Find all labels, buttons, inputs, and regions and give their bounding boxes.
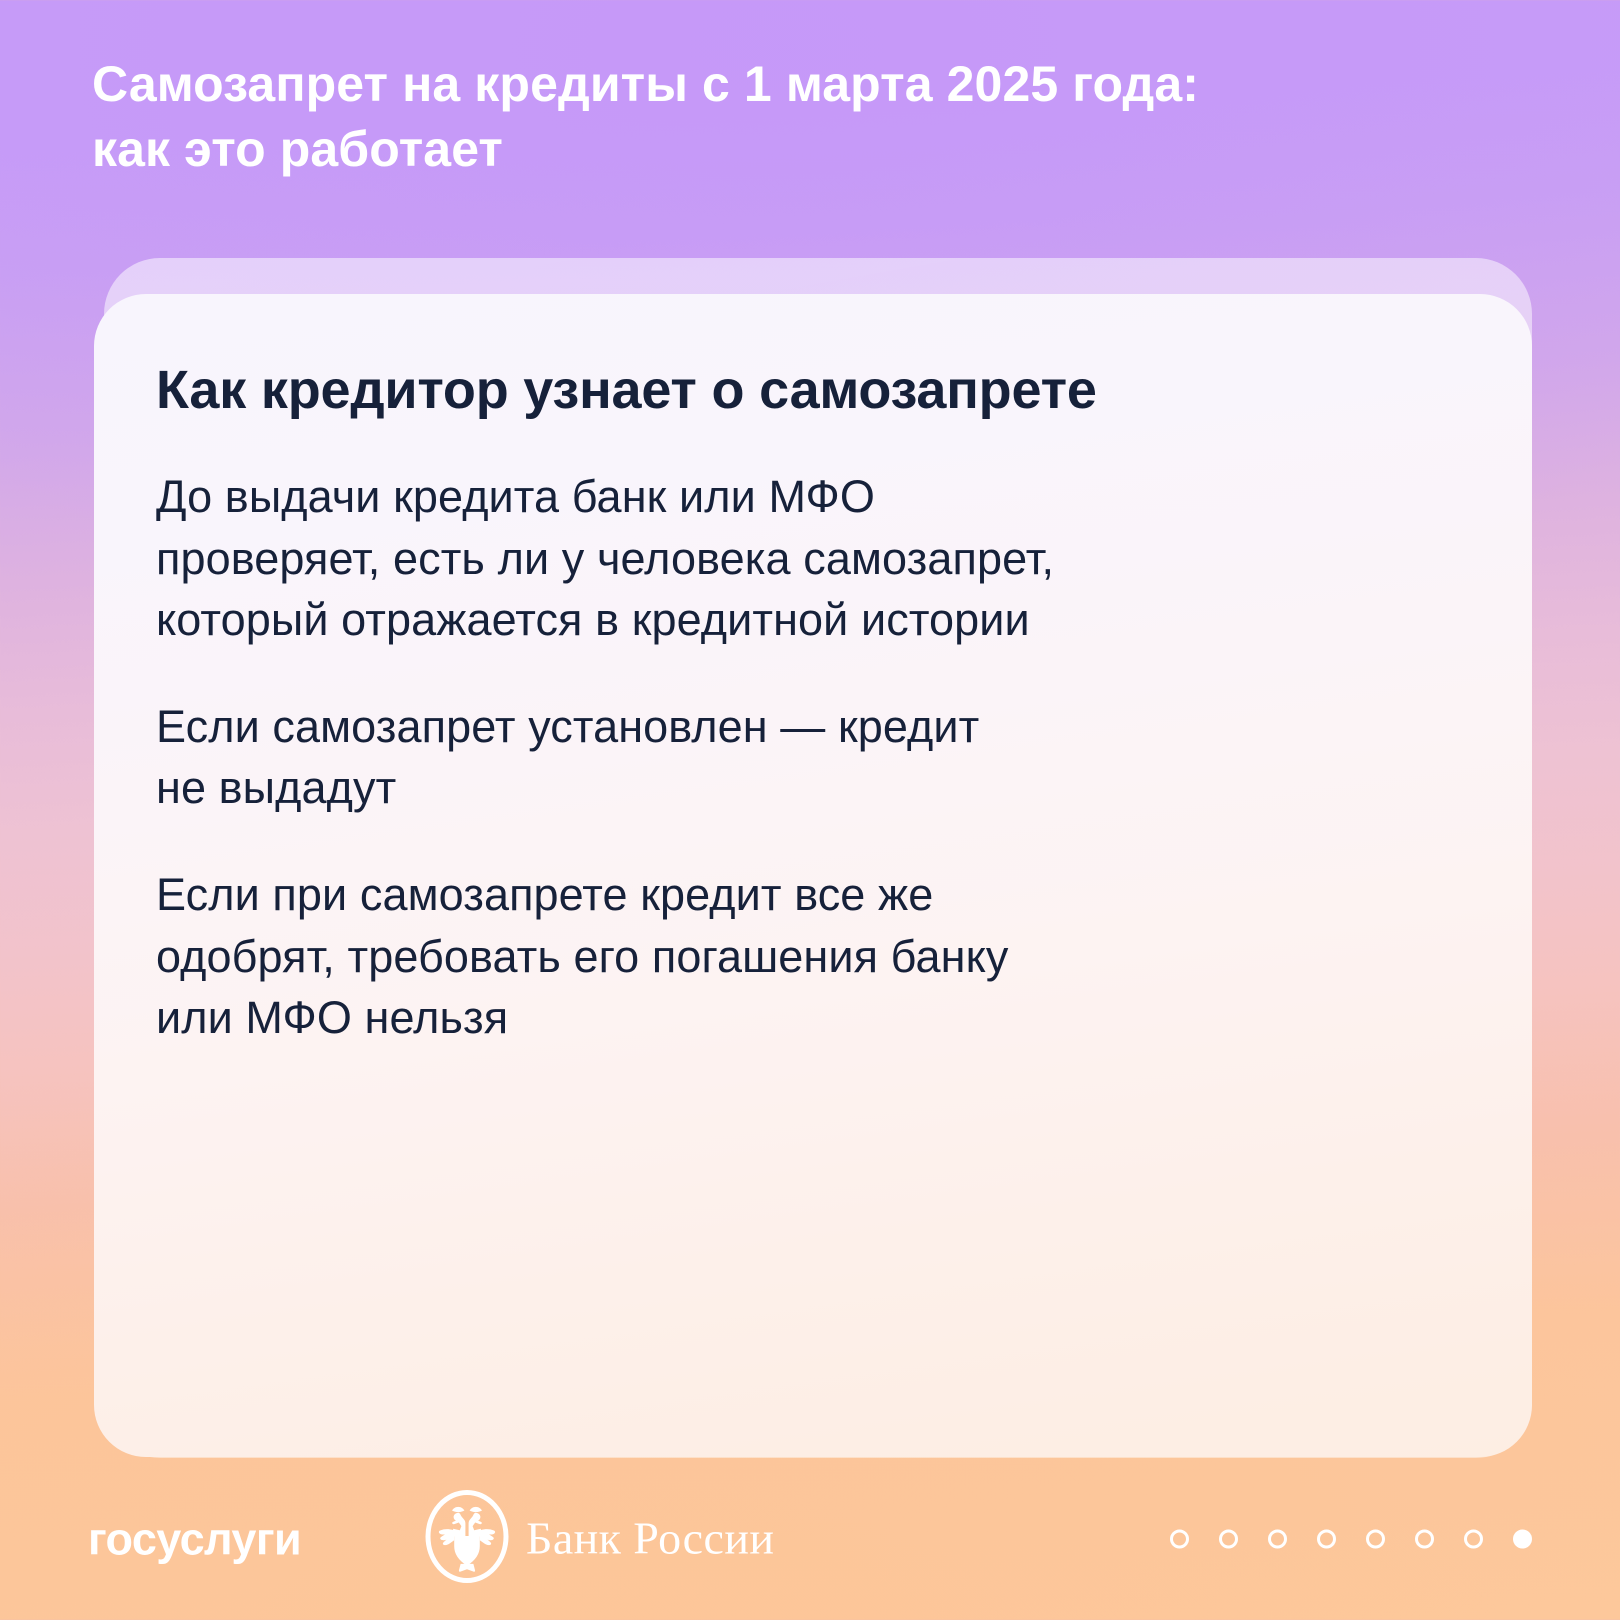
pagination-dot-2[interactable] [1219,1530,1238,1549]
footer: госуслуги [0,1458,1620,1620]
bank-of-russia-label: Банк России [526,1515,774,1563]
card-heading: Как кредитор узнает о самозапрете [156,360,1462,420]
card-paragraph-3: Если при самозапрете кредит все же одобр… [156,864,1386,1048]
pagination-dot-5[interactable] [1366,1530,1385,1549]
pagination-dot-7[interactable] [1464,1530,1483,1549]
page-title: Самозапрет на кредиты с 1 марта 2025 год… [92,52,1422,182]
pagination-dot-6[interactable] [1415,1530,1434,1549]
pagination-dot-1[interactable] [1170,1530,1189,1549]
content-card: Как кредитор узнает о самозапрете До выд… [94,294,1532,1457]
bank-of-russia-logo: Банк России [424,1489,774,1590]
header: Самозапрет на кредиты с 1 марта 2025 год… [92,52,1422,182]
pagination-dot-4[interactable] [1317,1530,1336,1549]
gosuslugi-logo: госуслуги [88,1517,301,1562]
card-paragraph-2: Если самозапрет установлен — кредит не в… [156,696,1386,818]
pagination-dot-8[interactable] [1513,1530,1532,1549]
double-headed-eagle-icon [424,1489,510,1590]
card-paragraph-1: До выдачи кредита банк или МФО проверяет… [156,466,1386,650]
pagination-dot-3[interactable] [1268,1530,1287,1549]
pagination-dots[interactable] [1170,1530,1532,1549]
